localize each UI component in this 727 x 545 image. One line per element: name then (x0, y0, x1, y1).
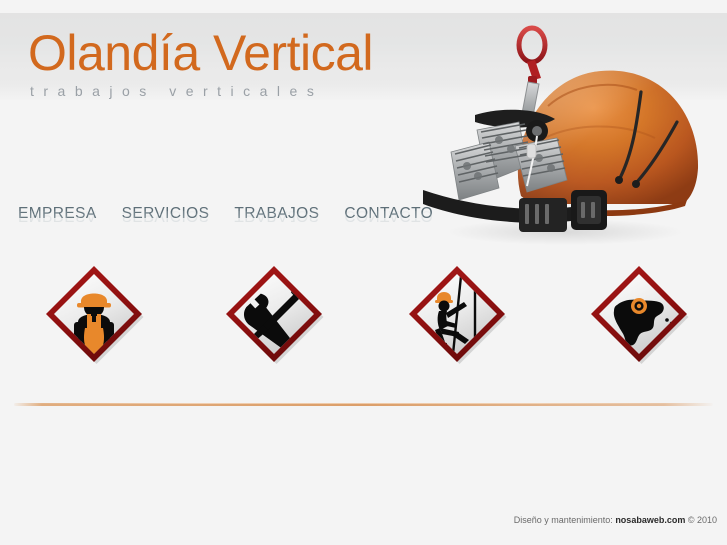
carabiner (519, 28, 545, 84)
footer-credit-link[interactable]: nosabaweb.com (615, 515, 685, 525)
site-title: Olandía Vertical (28, 26, 373, 80)
diamond-button-contacto[interactable] (583, 258, 695, 370)
nav-link-empresa[interactable]: EMPRESA (18, 205, 97, 223)
diamond-button-servicios[interactable] (218, 258, 330, 370)
diamond-button-trabajos[interactable] (401, 258, 513, 370)
footer-credit: Diseño y mantenimiento: nosabaweb.com © … (514, 514, 717, 526)
nav-link-trabajos[interactable]: TRABAJOS (234, 205, 319, 223)
site-logo[interactable]: Olandía Vertical trabajos verticales (28, 26, 373, 99)
page-root: Olandía Vertical trabajos verticales (0, 0, 727, 545)
main-navigation: EMPRESA EMPRESA SERVICIOS SERVICIOS TRAB… (18, 205, 438, 251)
content-divider (14, 403, 713, 406)
footer-copyright: © 2010 (685, 515, 717, 525)
nav-item-servicios[interactable]: SERVICIOS SERVICIOS (122, 205, 210, 242)
nav-item-trabajos[interactable]: TRABAJOS TRABAJOS (234, 205, 319, 242)
diamond-button-empresa[interactable] (38, 258, 150, 370)
site-tagline: trabajos verticales (30, 83, 373, 99)
nav-link-servicios[interactable]: SERVICIOS (122, 205, 210, 223)
footer-prefix: Diseño y mantenimiento: (514, 515, 616, 525)
hero-helmet-image (415, 18, 715, 250)
nav-item-contacto[interactable]: CONTACTO CONTACTO (344, 205, 433, 242)
nav-item-empresa[interactable]: EMPRESA EMPRESA (18, 205, 97, 242)
nav-list: EMPRESA EMPRESA SERVICIOS SERVICIOS TRAB… (18, 205, 438, 242)
nav-link-contacto[interactable]: CONTACTO (344, 205, 433, 223)
diamond-icon-row (0, 258, 727, 370)
